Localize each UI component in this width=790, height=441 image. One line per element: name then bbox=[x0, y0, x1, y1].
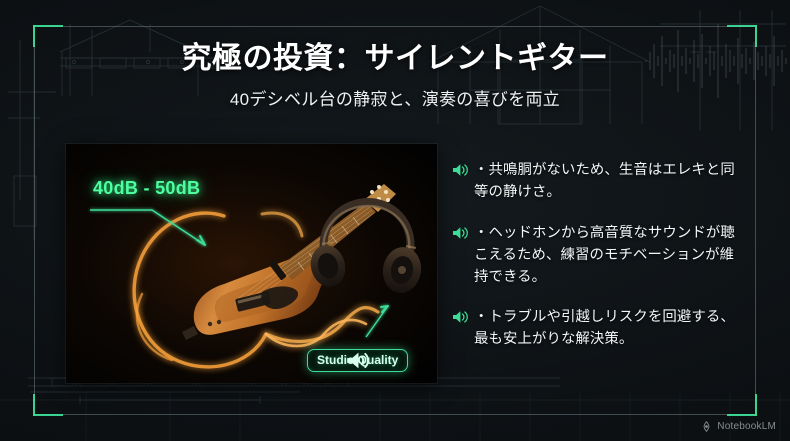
studio-quality-badge: Studio Quality bbox=[307, 349, 408, 372]
page-subtitle: 40デシベル台の静寂と、演奏の喜びを両立 bbox=[0, 85, 790, 110]
corner-bracket-bottom-left bbox=[33, 394, 63, 416]
speaker-icon bbox=[452, 310, 468, 324]
notebooklm-logo-icon bbox=[701, 421, 712, 432]
db-range-label: 40dB - 50dB bbox=[93, 178, 200, 199]
bullet-body: ヘッドホンから高音質なサウンドが聴こえるため、練習のモチベーションが維持できる。 bbox=[474, 225, 735, 285]
bullet-body: トラブルや引越しリスクを回避する、最も安上がりな解決策。 bbox=[474, 309, 735, 347]
frame-edge-top bbox=[34, 26, 756, 27]
list-item-text: ・ヘッドホンから高音質なサウンドが聴こえるため、練習のモチベーションが維持できる… bbox=[474, 223, 744, 289]
bullet-list: ・共鳴胴がないため、生音はエレキと同等の静けさ。 ・ヘッドホンから高音質なサウン… bbox=[452, 160, 744, 351]
list-item: ・ヘッドホンから高音質なサウンドが聴こえるため、練習のモチベーションが維持できる… bbox=[452, 223, 744, 289]
speaker-icon bbox=[452, 163, 468, 177]
page-title: 究極の投資：サイレントギター bbox=[0, 42, 790, 77]
bullet-marker: ・ bbox=[474, 309, 489, 325]
list-item: ・共鳴胴がないため、生音はエレキと同等の静けさ。 bbox=[452, 160, 744, 204]
bullet-marker: ・ bbox=[474, 225, 489, 241]
list-item: ・トラブルや引越しリスクを回避する、最も安上がりな解決策。 bbox=[452, 307, 744, 351]
speaker-icon bbox=[308, 350, 407, 371]
notebooklm-watermark: NotebookLM bbox=[701, 421, 776, 432]
list-item-text: ・共鳴胴がないため、生音はエレキと同等の静けさ。 bbox=[474, 160, 744, 204]
corner-bracket-bottom-right bbox=[727, 394, 757, 416]
silent-guitar-image: 40dB - 50dB Studio Quality bbox=[66, 144, 437, 383]
bullet-body: 共鳴胴がないため、生音はエレキと同等の静けさ。 bbox=[474, 162, 735, 200]
list-item-text: ・トラブルや引越しリスクを回避する、最も安上がりな解決策。 bbox=[474, 307, 744, 351]
speaker-icon bbox=[452, 226, 468, 240]
slide-root: 究極の投資：サイレントギター 40デシベル台の静寂と、演奏の喜びを両立 bbox=[0, 0, 790, 441]
heading-block: 究極の投資：サイレントギター 40デシベル台の静寂と、演奏の喜びを両立 bbox=[0, 42, 790, 110]
notebooklm-label: NotebookLM bbox=[717, 421, 776, 432]
frame-edge-bottom bbox=[34, 414, 756, 415]
bullet-marker: ・ bbox=[474, 162, 489, 178]
